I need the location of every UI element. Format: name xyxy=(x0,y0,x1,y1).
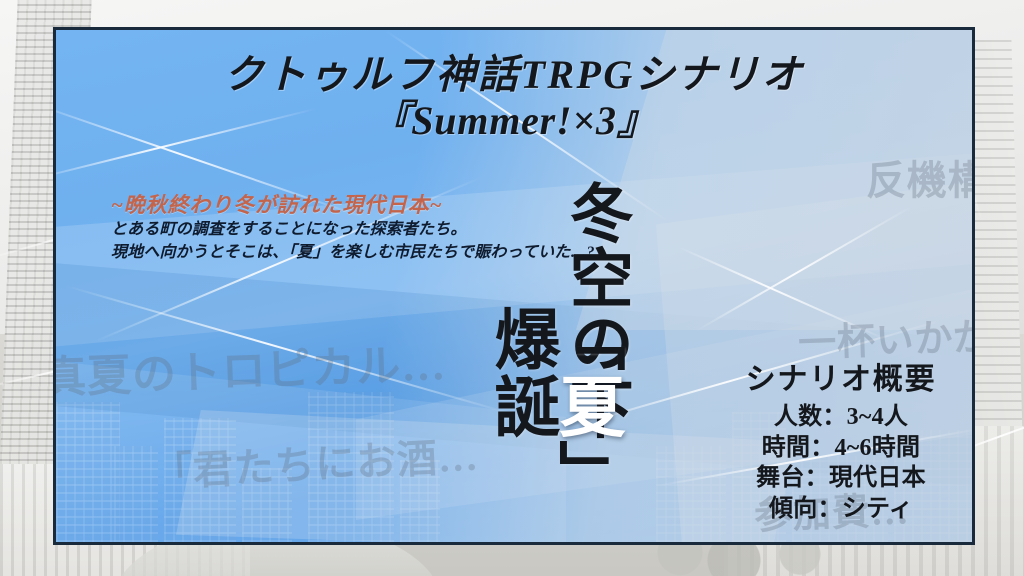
panel-building xyxy=(242,468,292,542)
lead-block: ~晩秋終わり冬が訪れた現代日本~ とある町の調査をすることになった探索者たち。 … xyxy=(111,192,595,265)
title-block: クトゥルフ神話TRPGシナリオ 『Summer!×3』 xyxy=(56,54,972,146)
lead-line-1: とある町の調査をすることになった探索者たち。 xyxy=(111,218,595,241)
panel-building xyxy=(400,460,440,542)
lead-line-2: 現地へ向かうとそこは、「夏」を楽しむ市民たちで賑わっていた…? xyxy=(111,241,595,264)
info-block: シナリオ概要 人数：3~4人時間：4~6時間舞台：現代日本傾向：シティ xyxy=(716,362,966,525)
panel-ray-8 xyxy=(676,245,887,340)
info-title: シナリオ概要 xyxy=(716,362,966,398)
panel-building xyxy=(114,446,158,542)
title-line-1: クトゥルフ神話TRPGシナリオ xyxy=(56,54,972,96)
panel-building xyxy=(56,402,120,542)
title-line-2: 『Summer!×3』 xyxy=(56,96,972,146)
main-panel: 反機構真夏のトロピカル…一杯いかが~?「君たちにお酒…参加費…マーサマー… クト… xyxy=(53,27,975,545)
info-row: 傾向：シティ xyxy=(716,494,966,525)
slide-canvas: 反機構真夏のトロピカル…一杯いかが~?「君たちにお酒…参加費…マーサマー… クト… xyxy=(0,0,1024,576)
watermark-text: 反機構 xyxy=(866,148,975,206)
headline-vertical-sub: 「夏」爆誕 xyxy=(488,305,617,542)
headline-sub-highlight: 夏 xyxy=(549,372,622,439)
headline-sub-pre: 「 xyxy=(549,305,622,372)
info-row: 舞台：現代日本 xyxy=(716,463,966,494)
info-rows: 人数：3~4人時間：4~6時間舞台：現代日本傾向：シティ xyxy=(716,402,966,525)
panel-ray-9 xyxy=(696,205,914,332)
info-row: 人数：3~4人 xyxy=(716,402,966,433)
panel-building xyxy=(308,392,394,542)
panel-building xyxy=(164,418,236,542)
lead-headline: ~晩秋終わり冬が訪れた現代日本~ xyxy=(111,192,595,218)
info-row: 時間：4~6時間 xyxy=(716,433,966,464)
